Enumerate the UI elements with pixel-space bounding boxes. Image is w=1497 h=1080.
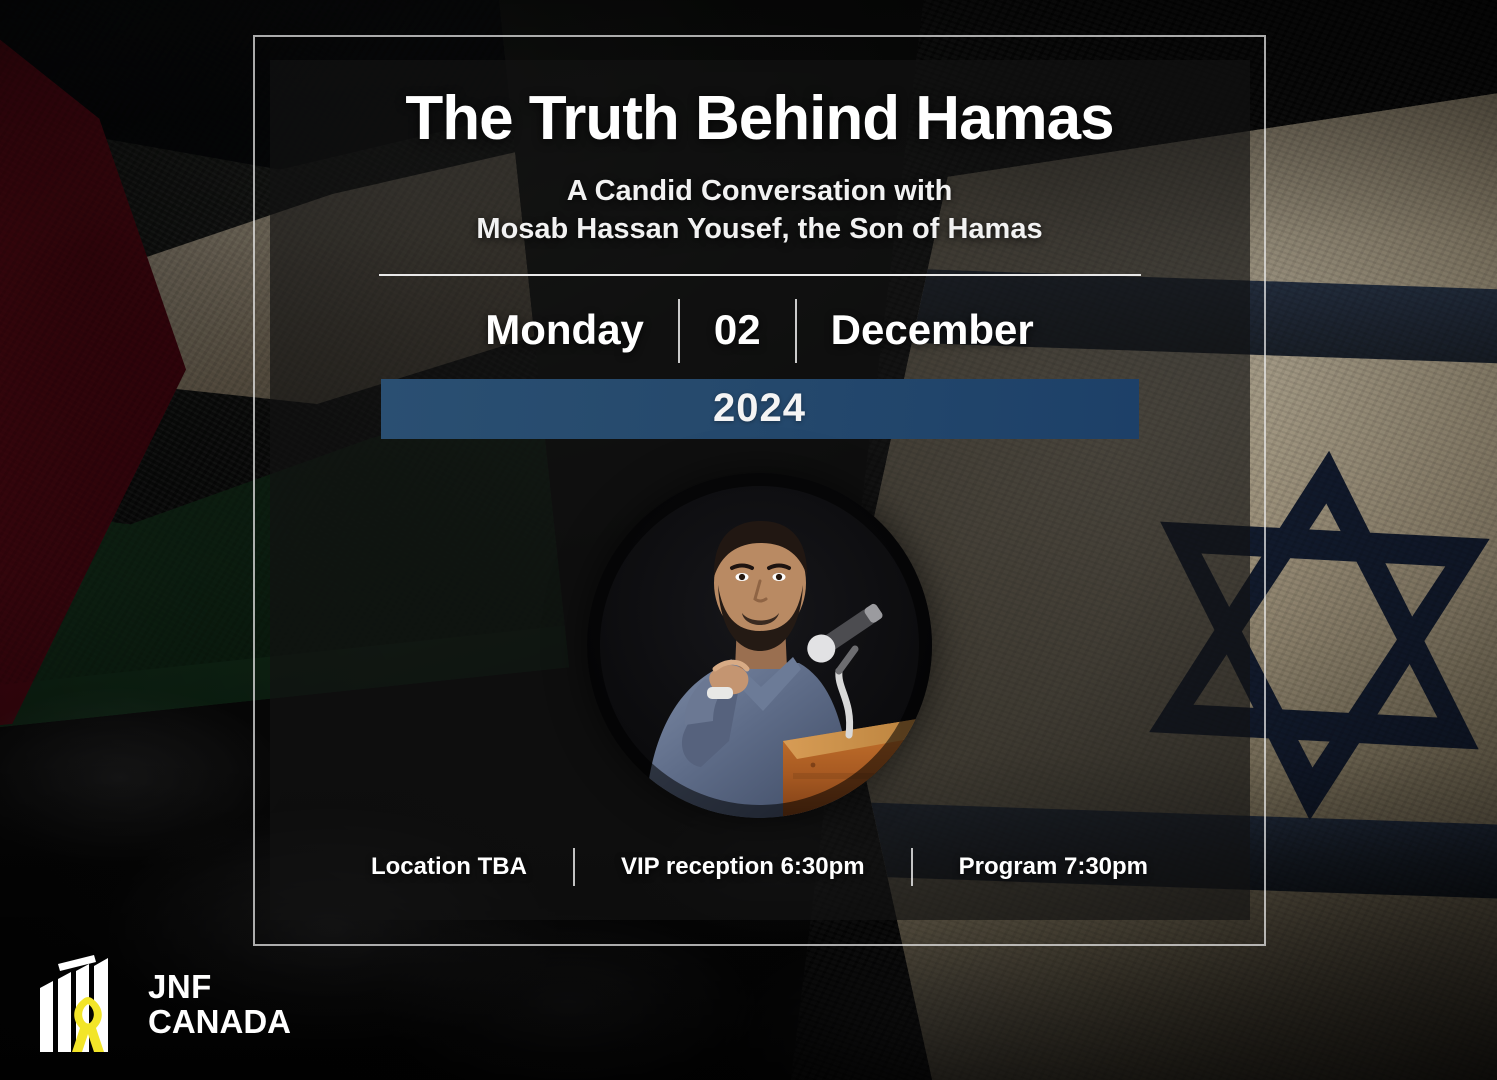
year-banner: 2024 [381, 379, 1139, 439]
date-weekday: Monday [451, 306, 678, 354]
jnf-bars-icon [38, 952, 130, 1058]
logo-line-jnf: JNF [148, 970, 291, 1005]
speaker-photo-illustration [587, 473, 932, 818]
event-info-row: Location TBA VIP reception 6:30pm Progra… [325, 848, 1194, 886]
speaker-portrait [587, 473, 932, 818]
page-title: The Truth Behind Hamas [405, 88, 1113, 150]
poster-content: The Truth Behind Hamas A Candid Conversa… [253, 35, 1266, 946]
event-date-row: Monday 02 December [451, 299, 1068, 363]
date-month: December [797, 306, 1068, 354]
event-poster: The Truth Behind Hamas A Candid Conversa… [0, 0, 1497, 1080]
divider-rule [379, 274, 1141, 276]
info-vip-reception: VIP reception 6:30pm [575, 853, 911, 881]
date-day: 02 [680, 306, 795, 354]
date-year: 2024 [713, 386, 806, 431]
subtitle: A Candid Conversation with Mosab Hassan … [476, 172, 1042, 249]
logo-line-canada: CANADA [148, 1005, 291, 1040]
jnf-logo-mark [38, 952, 130, 1058]
subtitle-line-2: Mosab Hassan Yousef, the Son of Hamas [476, 210, 1042, 248]
jnf-logo-text: JNF CANADA [148, 970, 291, 1040]
info-program-time: Program 7:30pm [913, 853, 1194, 881]
info-location: Location TBA [325, 853, 573, 881]
jnf-canada-logo: JNF CANADA [38, 952, 291, 1058]
subtitle-line-1: A Candid Conversation with [476, 172, 1042, 210]
